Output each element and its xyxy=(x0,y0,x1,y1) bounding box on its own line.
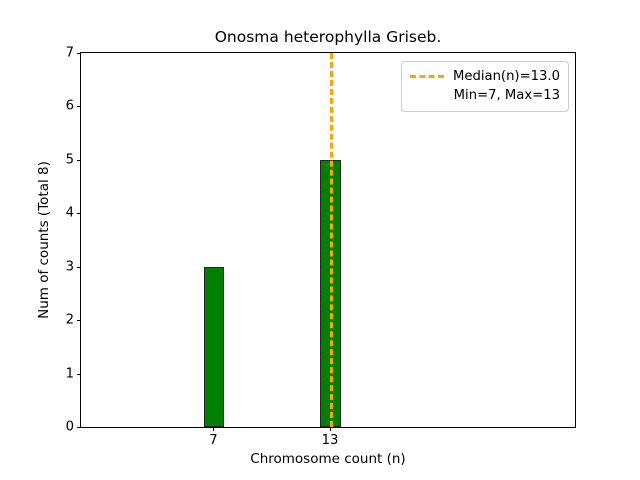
ytick-mark-4 xyxy=(77,213,81,214)
ytick-mark-3 xyxy=(77,267,81,268)
legend-entry-minmax: Min=7, Max=13 xyxy=(410,86,560,105)
ytick-label-3: 3 xyxy=(66,260,74,273)
x-axis-label: Chromosome count (n) xyxy=(80,452,576,467)
xtick-label-13: 13 xyxy=(322,434,339,447)
legend-label-median: Median(n)=13.0 xyxy=(453,67,560,86)
ytick-mark-7 xyxy=(77,53,81,54)
xtick-mark-7 xyxy=(213,427,214,431)
ytick-label-4: 4 xyxy=(66,207,74,220)
median-line xyxy=(330,53,333,427)
y-axis-label: Num of counts (Total 8) xyxy=(30,52,58,428)
bar-n7 xyxy=(204,267,225,427)
ytick-label-6: 6 xyxy=(66,100,74,113)
legend-label-minmax: Min=7, Max=13 xyxy=(453,86,560,105)
ytick-mark-2 xyxy=(77,320,81,321)
ytick-mark-6 xyxy=(77,106,81,107)
chart-title: Onosma heterophylla Griseb. xyxy=(80,28,576,46)
ytick-label-5: 5 xyxy=(66,153,74,166)
legend-entry-median: Median(n)=13.0 xyxy=(410,67,560,86)
ytick-mark-1 xyxy=(77,374,81,375)
ytick-label-2: 2 xyxy=(66,314,74,327)
xtick-mark-13 xyxy=(330,427,331,431)
ytick-label-7: 7 xyxy=(66,46,74,59)
plot-area: 0 1 2 3 4 5 6 7 xyxy=(80,52,576,428)
legend-dash-icon xyxy=(410,75,444,78)
legend: Median(n)=13.0 Min=7, Max=13 xyxy=(401,61,569,112)
legend-blank-icon xyxy=(410,94,444,97)
ytick-mark-5 xyxy=(77,160,81,161)
ytick-label-0: 0 xyxy=(66,420,74,433)
xtick-label-7: 7 xyxy=(209,434,217,447)
ytick-mark-0 xyxy=(77,427,81,428)
figure-canvas: Onosma heterophylla Griseb. 0 1 2 3 4 5 xyxy=(0,0,640,480)
ytick-label-1: 1 xyxy=(66,367,74,380)
